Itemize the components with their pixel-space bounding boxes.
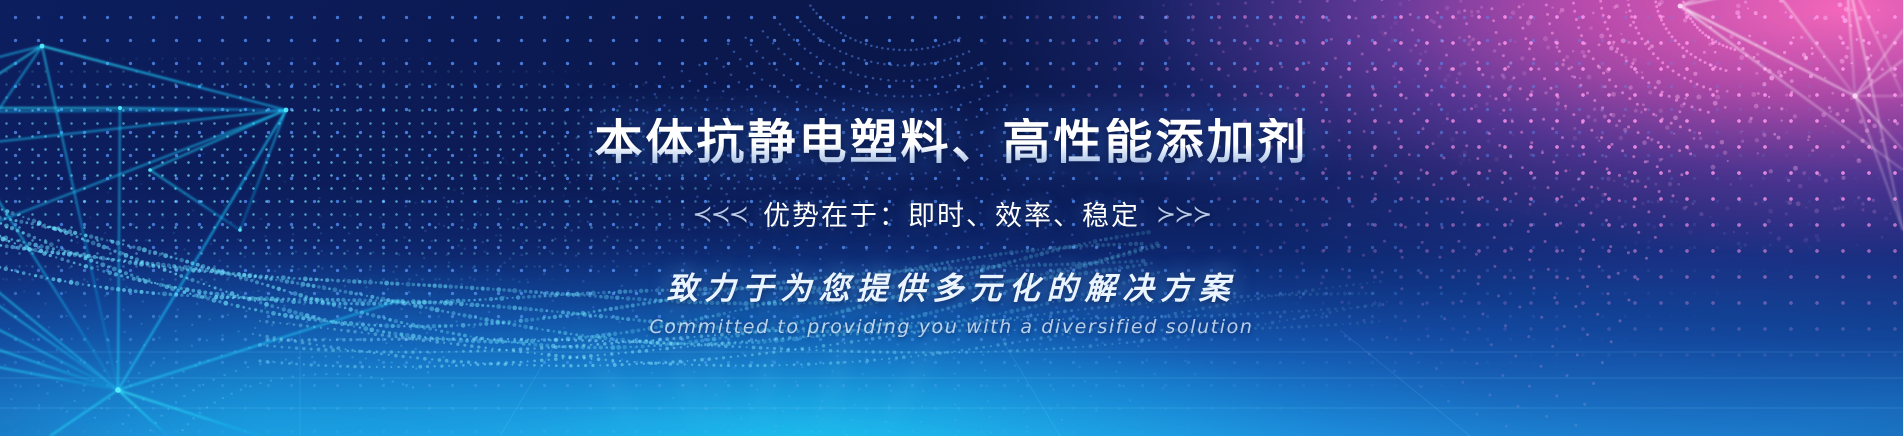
chevron-left-icon: ≺≺≺	[693, 200, 747, 228]
banner-title: 本体抗静电塑料、高性能添加剂	[594, 118, 1308, 166]
banner-subtitle: 优势在于：即时、效率、稳定	[763, 194, 1140, 233]
banner-tagline-english: Committed to providing you with a divers…	[649, 316, 1253, 338]
banner-subtitle-row: ≺≺≺ 优势在于：即时、效率、稳定 ≻≻≻	[693, 194, 1211, 233]
banner-content: 本体抗静电塑料、高性能添加剂 ≺≺≺ 优势在于：即时、效率、稳定 ≻≻≻ 致力于…	[0, 0, 1903, 436]
banner-tagline-chinese: 致力于为您提供多元化的解决方案	[667, 263, 1237, 308]
hero-banner: 本体抗静电塑料、高性能添加剂 ≺≺≺ 优势在于：即时、效率、稳定 ≻≻≻ 致力于…	[0, 0, 1903, 436]
chevron-right-icon: ≻≻≻	[1156, 200, 1210, 228]
